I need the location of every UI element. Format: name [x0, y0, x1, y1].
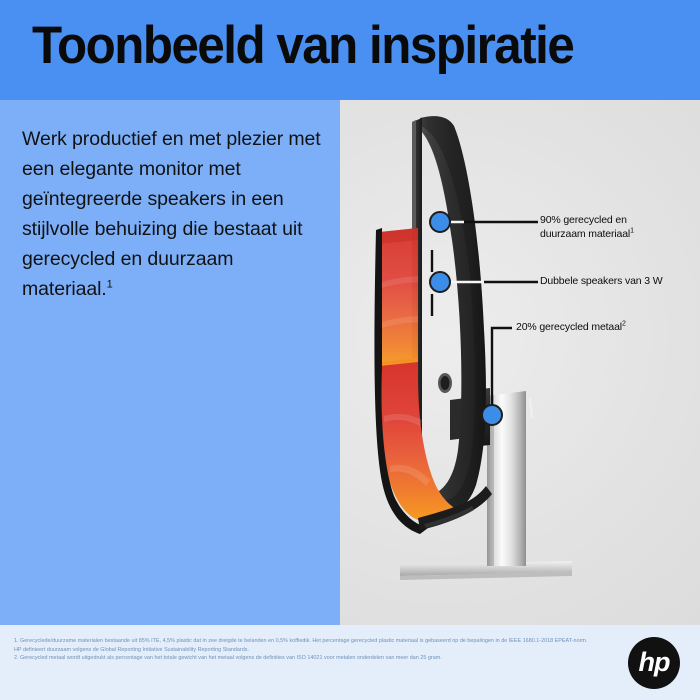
hp-logo: hp [628, 637, 680, 689]
body-copy: Werk productief en met plezier met een e… [22, 124, 322, 304]
left-text-column: Werk productief en met plezier met een e… [0, 100, 340, 625]
marketing-infographic: Toonbeeld van inspiratie Werk productief… [0, 0, 700, 700]
callout-label-line1: Dubbele speakers van 3 W [540, 275, 662, 287]
product-image-panel: 90% gerecycled en duurzaam materiaal1 Du… [340, 100, 700, 625]
callout-label-recycled-material: 90% gerecycled en duurzaam materiaal1 [540, 214, 634, 241]
callout-label-recycled-metal: 20% gerecycled metaal2 [516, 321, 626, 335]
hp-badge-on-monitor [438, 373, 452, 393]
callout-label-line1: 90% gerecycled en [540, 214, 627, 226]
monitor-illustration [340, 100, 700, 625]
footnote-2: 2. Gerecycled metaal wordt uitgedrukt al… [14, 654, 589, 663]
callout-label-line1: 20% gerecycled metaal [516, 321, 622, 333]
callout-dot-recycled-material[interactable] [429, 211, 451, 233]
callout-3-lead-white [530, 398, 532, 418]
callout-footnote-marker: 1 [630, 227, 634, 234]
callout-dot-recycled-metal[interactable] [481, 404, 503, 426]
footnote-1: 1. Gerecyclede/duurzame materialen besta… [14, 637, 589, 654]
callout-label-line2: duurzaam materiaal [540, 228, 630, 240]
body-copy-text: Werk productief en met plezier met een e… [22, 128, 321, 300]
footnotes: 1. Gerecyclede/duurzame materialen besta… [14, 637, 589, 663]
header-banner: Toonbeeld van inspiratie [0, 0, 700, 100]
hp-logo-text: hp [639, 649, 670, 676]
page-title: Toonbeeld van inspiratie [32, 16, 573, 75]
monitor-back-shell [420, 116, 486, 514]
callout-label-speakers: Dubbele speakers van 3 W [540, 275, 662, 289]
callout-dot-speakers[interactable] [429, 271, 451, 293]
callout-footnote-marker: 2 [622, 321, 626, 328]
footer-bar: 1. Gerecyclede/duurzame materialen besta… [0, 625, 700, 700]
body-copy-footnote-marker: 1 [107, 279, 113, 291]
monitor-base [400, 561, 572, 580]
